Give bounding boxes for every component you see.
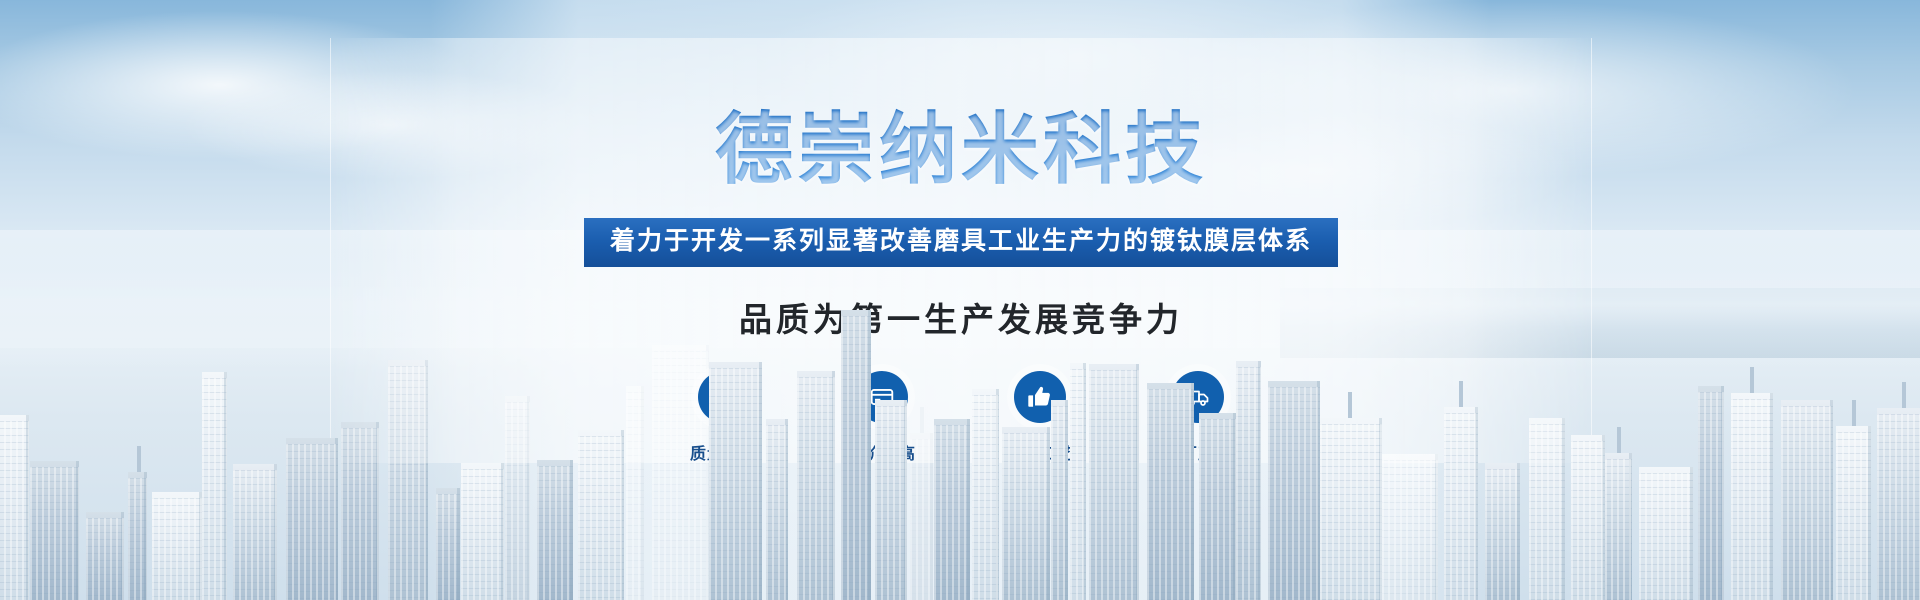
building (537, 460, 573, 600)
tagline: 品质为第一生产发展竞争力 (331, 293, 1591, 341)
building (1051, 400, 1068, 600)
building (1731, 393, 1773, 600)
building (436, 488, 460, 600)
building (1571, 435, 1605, 600)
building (934, 419, 970, 600)
building (128, 472, 147, 600)
building-antenna (137, 446, 141, 472)
building (972, 389, 999, 600)
building (1089, 364, 1139, 600)
building (1236, 361, 1261, 600)
building (709, 362, 762, 600)
building (1877, 408, 1920, 600)
building (1639, 467, 1693, 600)
building (1605, 453, 1632, 600)
building-antenna (1617, 427, 1621, 453)
building-antenna (1750, 367, 1754, 393)
building (30, 461, 79, 600)
building-antenna (1348, 392, 1352, 418)
subtitle-banner: 着力于开发一系列显著改善磨具工业生产力的镀钛膜层体系 (584, 218, 1338, 267)
building (233, 464, 277, 600)
building (1002, 427, 1050, 600)
building (1444, 407, 1478, 600)
building (1698, 386, 1724, 600)
building (202, 372, 227, 600)
building (797, 371, 835, 600)
building (461, 463, 504, 600)
building-antenna (1459, 381, 1463, 407)
building (1268, 381, 1320, 600)
building-antenna (1852, 400, 1856, 426)
building (286, 438, 338, 600)
building (1320, 418, 1382, 600)
company-title: 德崇纳米科技 (331, 38, 1591, 188)
building-antenna (1902, 382, 1906, 408)
building (1485, 463, 1520, 600)
building (841, 310, 871, 600)
building (1836, 426, 1871, 600)
building (152, 492, 202, 600)
building (1070, 363, 1086, 600)
building (86, 512, 124, 600)
building (1147, 383, 1194, 600)
banner-content: 德崇纳米科技 着力于开发一系列显著改善磨具工业生产力的镀钛膜层体系 品质为第一生… (331, 38, 1591, 464)
building (766, 419, 788, 600)
hero-banner: 德崇纳米科技 着力于开发一系列显著改善磨具工业生产力的镀钛膜层体系 品质为第一生… (0, 0, 1920, 600)
building (578, 430, 624, 600)
building (1199, 413, 1236, 600)
building (0, 415, 29, 600)
building (875, 400, 907, 600)
content-panel: 德崇纳米科技 着力于开发一系列显著改善磨具工业生产力的镀钛膜层体系 品质为第一生… (330, 38, 1592, 463)
building (1781, 400, 1833, 600)
